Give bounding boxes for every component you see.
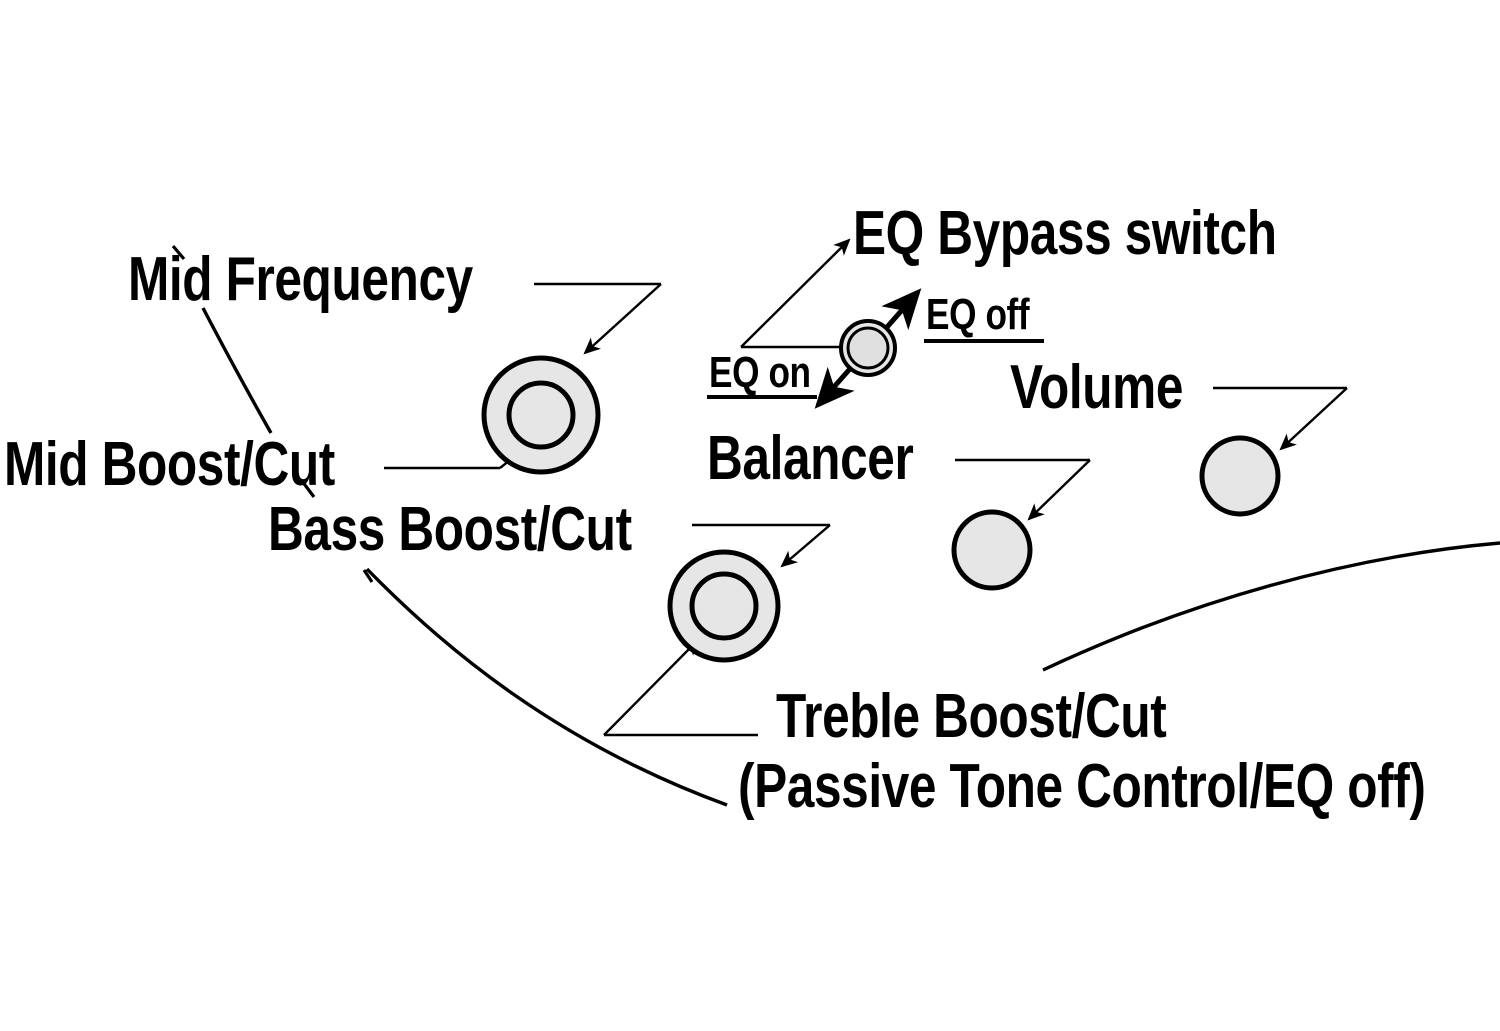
label-mid-frequency: Mid Frequency	[128, 249, 473, 311]
diagram-artwork	[0, 0, 1500, 1031]
label-mid-boost-cut: Mid Boost/Cut	[4, 434, 335, 496]
balancer-knob[interactable]	[954, 512, 1030, 588]
leader-bass-boost-cut-arrow	[782, 525, 830, 566]
treble-boost-cut-knob[interactable]	[692, 574, 756, 638]
mid-knob-stack[interactable]	[484, 358, 598, 472]
volume-knob[interactable]	[1202, 438, 1278, 514]
mid-boost-cut-knob[interactable]	[509, 383, 573, 447]
body-contour-upper-left	[203, 308, 271, 433]
eq-bypass-switch-cap[interactable]	[848, 328, 888, 368]
leader-balancer-arrow	[1029, 460, 1090, 519]
label-treble-subtitle: (Passive Tone Control/EQ off)	[738, 756, 1425, 818]
label-bass-boost-cut: Bass Boost/Cut	[268, 499, 632, 561]
label-treble-boost-cut: Treble Boost/Cut	[776, 686, 1166, 748]
leader-volume-arrow	[1281, 388, 1347, 449]
label-balancer: Balancer	[707, 428, 913, 490]
label-volume: Volume	[1010, 357, 1183, 419]
diagram-canvas: Mid Frequency Mid Boost/Cut Bass Boost/C…	[0, 0, 1500, 1031]
label-eq-bypass-switch: EQ Bypass switch	[853, 203, 1277, 265]
body-contour-right-sweep	[1043, 543, 1500, 670]
leader-eq-bypass-arrow	[741, 240, 849, 347]
label-eq-off: EQ off	[926, 293, 1029, 337]
leader-mid-frequency-arrow	[585, 284, 661, 353]
eq-bypass-switch[interactable]	[841, 321, 895, 375]
leader-treble-boost-cut-arrow	[604, 640, 698, 735]
label-eq-on: EQ on	[709, 351, 811, 395]
bass-knob-stack[interactable]	[670, 552, 778, 660]
